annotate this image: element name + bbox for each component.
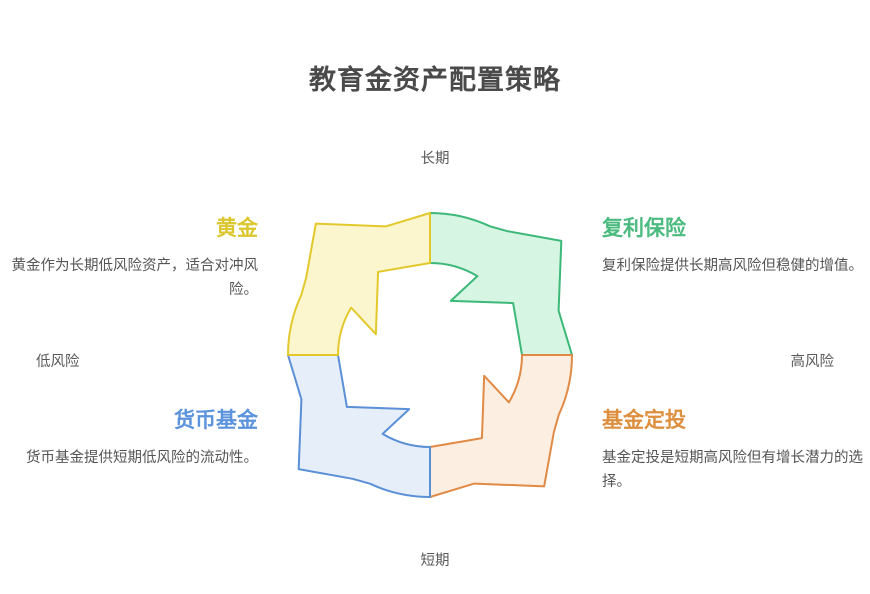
segment-title-gold: 黄金 xyxy=(0,216,258,241)
segment-title-insurance: 复利保险 xyxy=(602,216,870,241)
segment-card-gold[interactable]: 黄金 黄金作为长期低风险资产，适合对冲风险。 xyxy=(0,216,258,302)
segment-description-fund-investment: 基金定投是短期高风险但有增长潜力的选择。 xyxy=(602,447,870,494)
segment-card-insurance[interactable]: 复利保险 复利保险提供长期高风险但稳健的增值。 xyxy=(602,216,870,279)
infographic-canvas: 教育金资产配置策略 长期 短期 低风险 高风险 黄金 黄金作为长期低风险资产，适… xyxy=(0,0,870,594)
axis-label-top: 长期 xyxy=(0,147,870,168)
page-title: 教育金资产配置策略 xyxy=(0,58,870,97)
segment-description-insurance: 复利保险提供长期高风险但稳健的增值。 xyxy=(602,255,870,278)
axis-label-right: 高风险 xyxy=(791,350,835,371)
ring-arrow-fund xyxy=(430,355,572,497)
ring-arrow-money xyxy=(288,355,430,497)
segment-card-money-fund[interactable]: 货币基金 货币基金提供短期低风险的流动性。 xyxy=(0,408,258,471)
ring-arrow-insurance xyxy=(430,213,572,355)
ring-arrow-gold xyxy=(288,213,430,355)
segment-title-fund-investment: 基金定投 xyxy=(602,408,870,433)
axis-label-bottom: 短期 xyxy=(0,549,870,570)
segment-title-money-fund: 货币基金 xyxy=(0,408,258,433)
segment-card-fund-investment[interactable]: 基金定投 基金定投是短期高风险但有增长潜力的选择。 xyxy=(602,408,870,494)
segment-description-gold: 黄金作为长期低风险资产，适合对冲风险。 xyxy=(0,255,258,302)
axis-label-left: 低风险 xyxy=(36,350,80,371)
segment-description-money-fund: 货币基金提供短期低风险的流动性。 xyxy=(0,447,258,470)
